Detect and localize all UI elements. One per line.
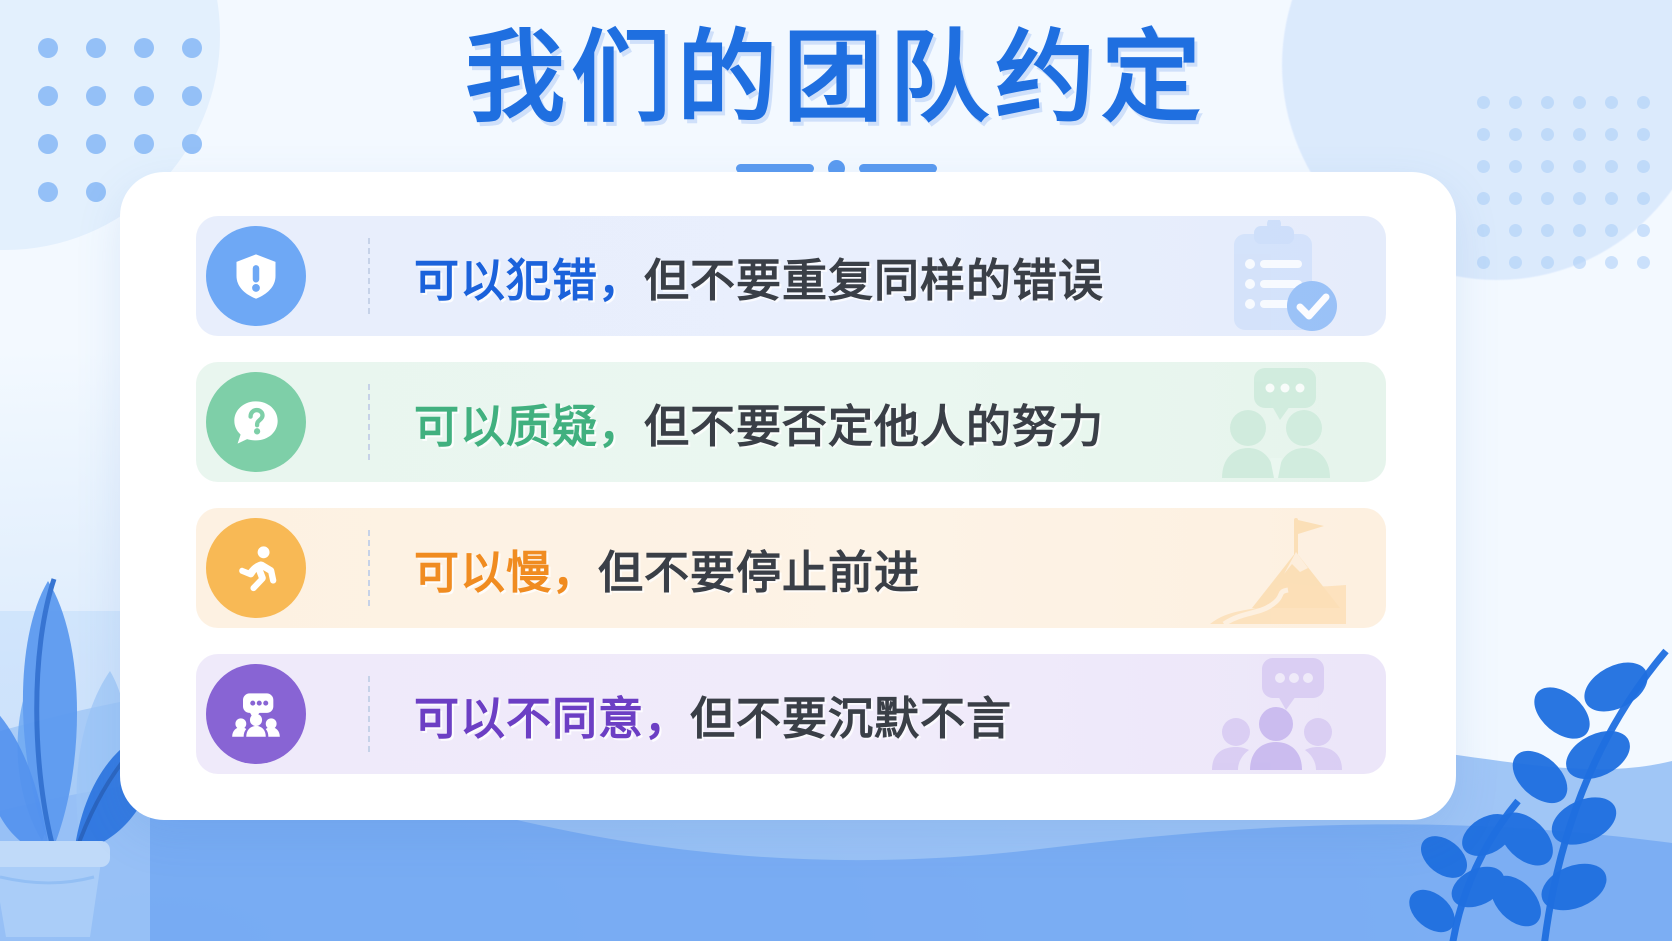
group-speech-bubble-icon bbox=[1180, 654, 1370, 774]
row-divider bbox=[368, 530, 370, 606]
rule-highlight: 可以不同意， bbox=[414, 692, 690, 745]
rule-text: 可以不同意，但不要沉默不言 bbox=[414, 682, 1012, 747]
rule-rest: 但不要否定他人的努力 bbox=[644, 400, 1104, 453]
shield-alert-icon bbox=[206, 226, 306, 326]
poster-canvas: 我们的团队约定 可以犯错，但不要重复同样的错误 bbox=[0, 0, 1672, 941]
rule-rest: 但不要沉默不言 bbox=[690, 692, 1012, 745]
row-divider bbox=[368, 238, 370, 314]
rule-highlight: 可以质疑， bbox=[414, 400, 644, 453]
running-person-icon bbox=[206, 518, 306, 618]
rule-text: 可以质疑，但不要否定他人的努力 bbox=[414, 390, 1104, 455]
rule-rest: 但不要停止前进 bbox=[598, 546, 920, 599]
rules-list: 可以犯错，但不要重复同样的错误 bbox=[196, 216, 1386, 774]
two-people-discussion-icon bbox=[1180, 362, 1370, 482]
rule-highlight: 可以犯错， bbox=[414, 254, 644, 307]
question-bubble-icon bbox=[206, 372, 306, 472]
rule-row[interactable]: 可以不同意，但不要沉默不言 bbox=[196, 654, 1386, 774]
rule-rest: 但不要重复同样的错误 bbox=[644, 254, 1104, 307]
row-divider bbox=[368, 676, 370, 752]
rule-highlight: 可以慢， bbox=[414, 546, 598, 599]
clipboard-checklist-icon bbox=[1180, 216, 1370, 336]
rule-row[interactable]: 可以质疑，但不要否定他人的努力 bbox=[196, 362, 1386, 482]
rule-row[interactable]: 可以犯错，但不要重复同样的错误 bbox=[196, 216, 1386, 336]
group-chat-icon bbox=[206, 664, 306, 764]
row-divider bbox=[368, 384, 370, 460]
title-area: 我们的团队约定 bbox=[0, 22, 1672, 134]
rule-row[interactable]: 可以慢，但不要停止前进 bbox=[196, 508, 1386, 628]
page-title: 我们的团队约定 bbox=[465, 22, 1207, 134]
rule-text: 可以慢，但不要停止前进 bbox=[414, 536, 920, 601]
mountain-flag-road-icon bbox=[1180, 508, 1370, 628]
rule-text: 可以犯错，但不要重复同样的错误 bbox=[414, 244, 1104, 309]
